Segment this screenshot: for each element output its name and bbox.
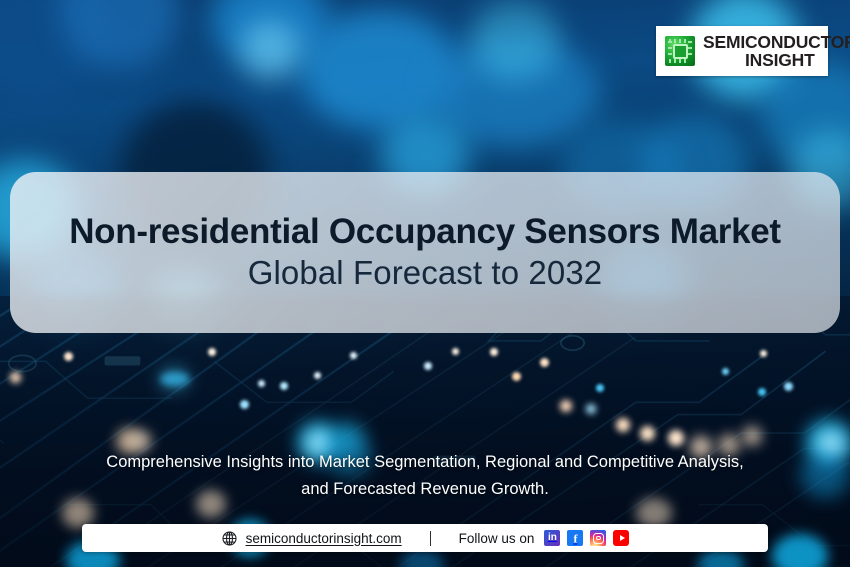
tagline-line-1: Comprehensive Insights into Market Segme… <box>14 449 836 476</box>
page-title: Non-residential Occupancy Sensors Market <box>69 212 781 251</box>
instagram-frame <box>593 533 604 544</box>
youtube-play-glyph <box>620 535 625 541</box>
follow-us-label: Follow us on <box>459 531 535 546</box>
brand-name-line2: INSIGHT <box>703 51 850 69</box>
footer-bar: semiconductorinsight.com Follow us on in… <box>82 524 768 552</box>
brand-logo[interactable]: SEMICONDUCTOR INSIGHT <box>656 26 828 76</box>
facebook-icon[interactable]: f <box>567 530 583 546</box>
tagline: Comprehensive Insights into Market Segme… <box>0 449 850 502</box>
tagline-line-2: and Forecasted Revenue Growth. <box>14 476 836 503</box>
linkedin-icon[interactable]: in <box>544 530 560 546</box>
microchip-icon <box>665 36 695 66</box>
title-card: Non-residential Occupancy Sensors Market… <box>10 172 840 333</box>
brand-name-line1: SEMICONDUCTOR <box>703 33 850 51</box>
globe-icon <box>221 530 238 547</box>
chip-core <box>673 44 688 59</box>
instagram-icon[interactable] <box>590 530 606 546</box>
facebook-glyph: f <box>573 533 577 545</box>
brand-logo-text: SEMICONDUCTOR INSIGHT <box>703 33 850 69</box>
footer-divider <box>430 531 431 546</box>
website-link[interactable]: semiconductorinsight.com <box>246 531 402 546</box>
page-subtitle: Global Forecast to 2032 <box>248 253 603 293</box>
social-links: in f <box>544 530 629 546</box>
instagram-lens <box>596 536 601 541</box>
report-cover-poster: SEMICONDUCTOR INSIGHT Non-residential Oc… <box>0 0 850 567</box>
youtube-icon[interactable] <box>613 530 629 546</box>
linkedin-glyph: in <box>548 533 557 543</box>
